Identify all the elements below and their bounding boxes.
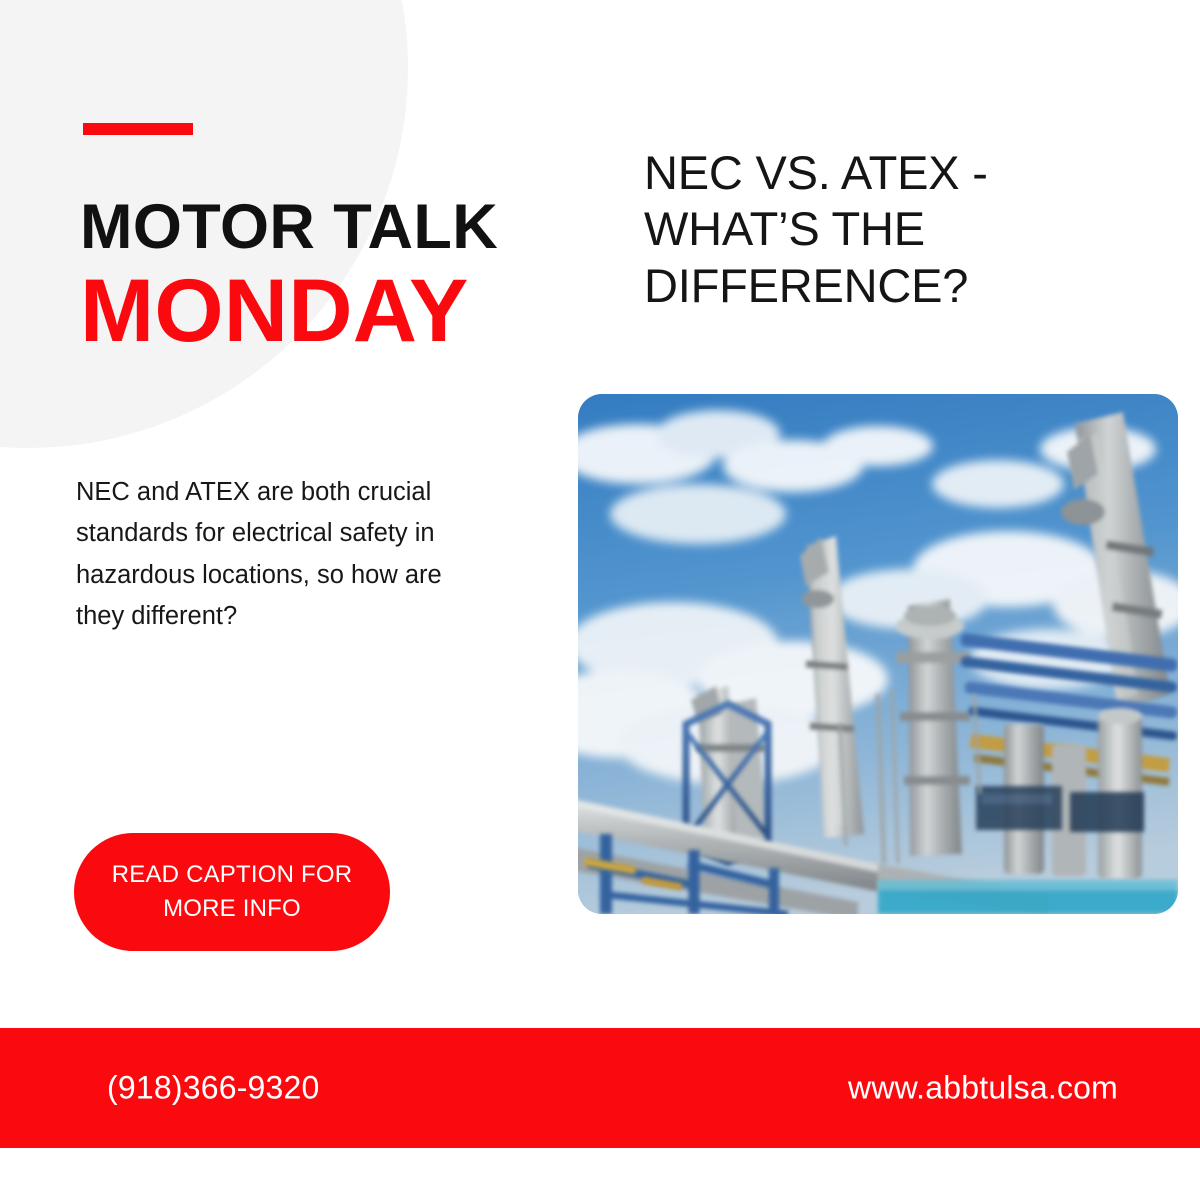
footer-contact-bar: (918)366-9320 www.abbtulsa.com [0,1028,1200,1148]
headline-text: NEC VS. ATEX - WHAT’S THE DIFFERENCE? [644,145,1134,314]
footer-website-url[interactable]: www.abbtulsa.com [848,1070,1118,1107]
left-content-column: MOTOR TALK MONDAY NEC and ATEX are both … [0,0,600,1028]
body-paragraph: NEC and ATEX are both crucial standards … [76,472,448,637]
brand-title-block: MOTOR TALK MONDAY [80,196,600,356]
red-accent-bar [83,123,193,135]
refinery-photo-illustration [578,394,1178,914]
poster-canvas: MOTOR TALK MONDAY NEC and ATEX are both … [0,0,1200,1200]
brand-title-line-2: MONDAY [80,265,600,356]
brand-title-line-1: MOTOR TALK [80,196,600,259]
refinery-photo [578,394,1178,914]
footer-phone-number[interactable]: (918)366-9320 [107,1070,320,1107]
cta-button-label: READ CAPTION FOR MORE INFO [107,858,357,926]
read-caption-cta-button[interactable]: READ CAPTION FOR MORE INFO [74,833,390,951]
